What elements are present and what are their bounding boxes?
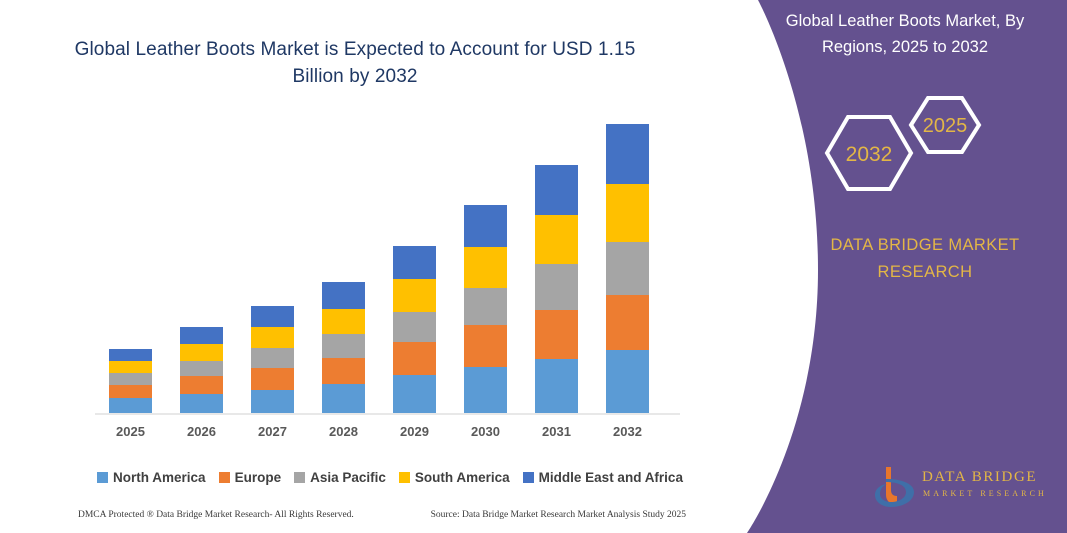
chart-title: Global Leather Boots Market is Expected …	[60, 36, 650, 90]
chart-legend: North AmericaEuropeAsia PacificSouth Ame…	[95, 470, 685, 485]
x-axis-label-2028: 2028	[308, 421, 379, 443]
dbmr-logo: DATA BRIDGE MARKET RESEARCH	[872, 465, 1057, 510]
bar-segment[interactable]	[180, 376, 223, 394]
bar-segment[interactable]	[322, 282, 365, 308]
bar-segment[interactable]	[109, 385, 152, 399]
legend-label: Asia Pacific	[310, 470, 386, 485]
right-panel-title: Global Leather Boots Market, By Regions,…	[760, 8, 1050, 60]
hexagon-2032-label: 2032	[846, 143, 893, 166]
legend-swatch-icon	[97, 472, 108, 483]
stacked-bar-2027[interactable]	[251, 306, 294, 413]
legend-swatch-icon	[399, 472, 410, 483]
stacked-bar-2032[interactable]	[606, 124, 649, 413]
hexagon-2025-label: 2025	[923, 115, 968, 137]
stacked-bar-2029[interactable]	[393, 246, 436, 413]
x-axis-label-2029: 2029	[379, 421, 450, 443]
bar-segment[interactable]	[109, 349, 152, 360]
bar-segment[interactable]	[535, 165, 578, 214]
legend-label: Europe	[235, 470, 282, 485]
bar-segment[interactable]	[393, 246, 436, 279]
bar-slot	[521, 110, 592, 413]
bar-segment[interactable]	[535, 264, 578, 310]
bar-segment[interactable]	[464, 325, 507, 367]
legend-label: North America	[113, 470, 206, 485]
bar-segment[interactable]	[251, 327, 294, 348]
x-axis-line	[95, 413, 680, 415]
bar-segment[interactable]	[535, 310, 578, 359]
brand-line-1: DATA BRIDGE MARKET	[790, 232, 1060, 259]
chart-panel: Global Leather Boots Market is Expected …	[0, 0, 710, 533]
stacked-bar-2028[interactable]	[322, 282, 365, 413]
bar-slot	[379, 110, 450, 413]
bar-slot	[95, 110, 166, 413]
bar-segment[interactable]	[251, 348, 294, 368]
bar-segment[interactable]	[322, 358, 365, 384]
bar-segment[interactable]	[393, 279, 436, 311]
legend-item[interactable]: Europe	[219, 470, 282, 485]
bar-segment[interactable]	[606, 124, 649, 185]
brand-name: DATA BRIDGE MARKET RESEARCH	[790, 232, 1060, 286]
bar-slot	[237, 110, 308, 413]
bar-segment[interactable]	[322, 384, 365, 413]
bar-segment[interactable]	[464, 247, 507, 288]
bar-segment[interactable]	[251, 306, 294, 327]
bar-segment[interactable]	[535, 359, 578, 413]
x-axis-label-2027: 2027	[237, 421, 308, 443]
legend-label: Middle East and Africa	[539, 470, 683, 485]
bar-segment[interactable]	[251, 390, 294, 413]
bar-segment[interactable]	[464, 205, 507, 247]
bar-segment[interactable]	[464, 288, 507, 326]
bar-segment[interactable]	[180, 394, 223, 413]
bar-segment[interactable]	[606, 184, 649, 241]
bar-segment[interactable]	[393, 375, 436, 413]
legend-item[interactable]: North America	[97, 470, 206, 485]
stacked-bar-2030[interactable]	[464, 205, 507, 413]
legend-swatch-icon	[523, 472, 534, 483]
x-axis-label-2026: 2026	[166, 421, 237, 443]
bar-slot	[166, 110, 237, 413]
bar-segment[interactable]	[464, 367, 507, 413]
stacked-bar-2031[interactable]	[535, 165, 578, 413]
bar-group	[95, 110, 685, 413]
bar-slot	[592, 110, 663, 413]
logo-text-main: DATA BRIDGE	[922, 469, 1037, 486]
legend-item[interactable]: South America	[399, 470, 510, 485]
bar-segment[interactable]	[109, 398, 152, 413]
bar-segment[interactable]	[606, 350, 649, 413]
infographic-root: Global Leather Boots Market is Expected …	[0, 0, 1067, 533]
bar-segment[interactable]	[180, 344, 223, 361]
bar-segment[interactable]	[180, 327, 223, 344]
x-axis-label-2032: 2032	[592, 421, 663, 443]
legend-label: South America	[415, 470, 510, 485]
bar-segment[interactable]	[109, 373, 152, 384]
bar-segment[interactable]	[180, 361, 223, 377]
dbmr-logo-mark	[872, 465, 918, 509]
bar-segment[interactable]	[322, 309, 365, 334]
x-axis-label-2030: 2030	[450, 421, 521, 443]
stacked-bar-2025[interactable]	[109, 349, 152, 413]
chart-plot-area	[95, 110, 685, 415]
bar-segment[interactable]	[393, 342, 436, 375]
footer-source: Source: Data Bridge Market Research Mark…	[431, 510, 686, 520]
footer: DMCA Protected ® Data Bridge Market Rese…	[78, 506, 688, 524]
bar-segment[interactable]	[606, 242, 649, 295]
bar-segment[interactable]	[535, 215, 578, 264]
legend-item[interactable]: Asia Pacific	[294, 470, 386, 485]
footer-copyright: DMCA Protected ® Data Bridge Market Rese…	[78, 510, 354, 520]
stacked-bar-2026[interactable]	[180, 327, 223, 413]
bar-segment[interactable]	[606, 295, 649, 350]
bar-segment[interactable]	[109, 361, 152, 374]
legend-item[interactable]: Middle East and Africa	[523, 470, 683, 485]
legend-swatch-icon	[219, 472, 230, 483]
bar-segment[interactable]	[251, 368, 294, 390]
bar-slot	[450, 110, 521, 413]
bar-segment[interactable]	[393, 312, 436, 342]
brand-line-2: RESEARCH	[790, 259, 1060, 286]
legend-swatch-icon	[294, 472, 305, 483]
logo-text-sub: MARKET RESEARCH	[923, 489, 1047, 498]
bar-slot	[308, 110, 379, 413]
hexagon-group: 2025 2032	[815, 95, 995, 205]
bar-segment[interactable]	[322, 334, 365, 358]
x-axis-label-2025: 2025	[95, 421, 166, 443]
x-axis-labels: 20252026202720282029203020312032	[95, 421, 685, 443]
x-axis-label-2031: 2031	[521, 421, 592, 443]
